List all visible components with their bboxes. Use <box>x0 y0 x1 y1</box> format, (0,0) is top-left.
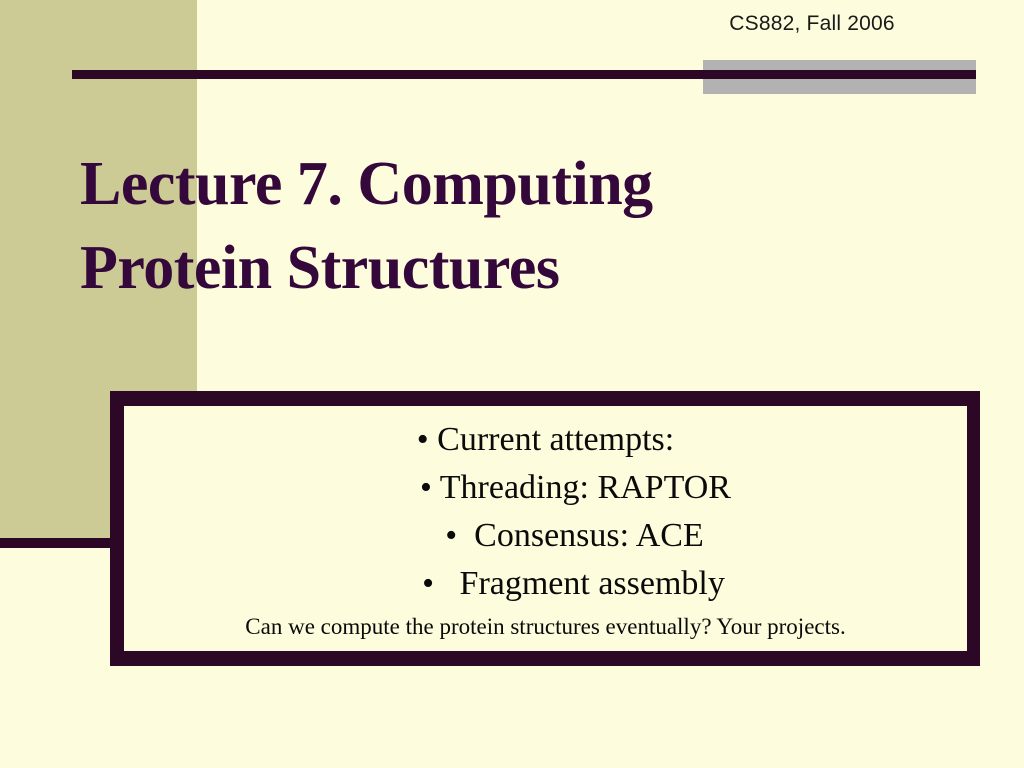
list-item: • Consensus: ACE <box>138 512 953 560</box>
page-title: Lecture 7. Computing Protein Structures <box>80 142 840 310</box>
list-item: • Fragment assembly <box>138 560 953 608</box>
page-title-line-1: Lecture 7. Computing <box>80 142 840 226</box>
header-horizontal-rule <box>72 70 976 79</box>
content-box-inner: • Current attempts: • Threading: RAPTOR … <box>122 404 969 653</box>
list-item: • Threading: RAPTOR <box>138 464 953 512</box>
page-title-line-2: Protein Structures <box>80 226 840 310</box>
list-item: • Current attempts: <box>138 416 953 464</box>
content-box: • Current attempts: • Threading: RAPTOR … <box>110 391 980 666</box>
content-footnote: Can we compute the protein structures ev… <box>138 612 953 642</box>
slide-canvas: CS882, Fall 2006 Lecture 7. Computing Pr… <box>0 0 1024 768</box>
header-course-label: CS882, Fall 2006 <box>600 12 1024 36</box>
olive-band-underline <box>0 538 112 548</box>
